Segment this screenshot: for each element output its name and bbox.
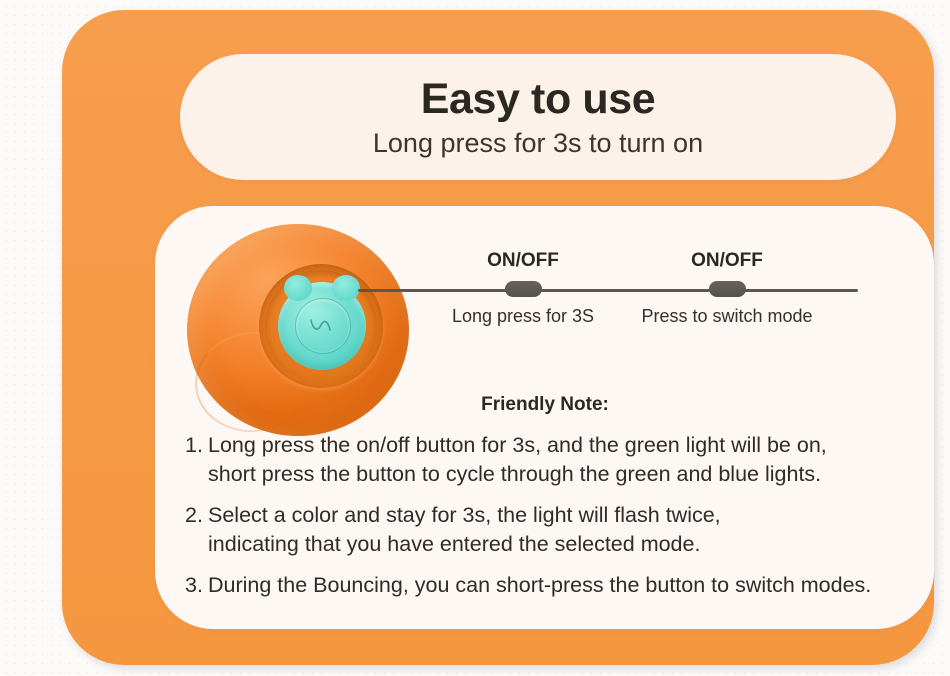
timeline-marker-step-2 [709, 281, 746, 297]
step-caption-1: Long press for 3S [423, 306, 623, 327]
button-recess-ring [259, 264, 383, 388]
page-subtitle: Long press for 3s to turn on [373, 130, 703, 157]
note-item: 1. Long press the on/off button for 3s, … [185, 431, 930, 488]
bear-ear-right-icon [332, 275, 360, 301]
step-caption-2: Press to switch mode [607, 306, 847, 327]
note-line: short press the button to cycle through … [208, 460, 930, 489]
note-number: 1. [185, 431, 208, 460]
power-button[interactable] [278, 282, 366, 370]
note-line: During the Bouncing, you can short-press… [208, 571, 930, 600]
timeline-marker-step-1 [505, 281, 542, 297]
friendly-note-heading: Friendly Note: [375, 394, 715, 416]
infographic-canvas: Easy to use Long press for 3s to turn on [0, 0, 950, 676]
note-line: Select a color and stay for 3s, the ligh… [208, 501, 930, 530]
note-text: Select a color and stay for 3s, the ligh… [208, 501, 930, 558]
page-title: Easy to use [421, 78, 656, 121]
note-number: 3. [185, 571, 208, 600]
onoff-label-step-1: ON/OFF [443, 250, 603, 272]
paw-glyph-icon [309, 318, 335, 334]
header-card: Easy to use Long press for 3s to turn on [180, 54, 896, 180]
button-recess-inner [265, 270, 377, 382]
note-text: During the Bouncing, you can short-press… [208, 571, 930, 600]
timeline-line [358, 289, 858, 292]
note-line: Long press the on/off button for 3s, and… [208, 431, 930, 460]
note-number: 2. [185, 501, 208, 530]
bear-ear-left-icon [284, 275, 312, 301]
body-card: ON/OFF Long press for 3S ON/OFF Press to… [155, 206, 934, 629]
note-line: indicating that you have entered the sel… [208, 530, 930, 559]
note-item: 2. Select a color and stay for 3s, the l… [185, 501, 930, 558]
note-text: Long press the on/off button for 3s, and… [208, 431, 930, 488]
note-item: 3. During the Bouncing, you can short-pr… [185, 571, 930, 600]
friendly-note-list: 1. Long press the on/off button for 3s, … [185, 431, 930, 613]
onoff-label-step-2: ON/OFF [647, 250, 807, 272]
orange-frame: Easy to use Long press for 3s to turn on [62, 10, 934, 665]
